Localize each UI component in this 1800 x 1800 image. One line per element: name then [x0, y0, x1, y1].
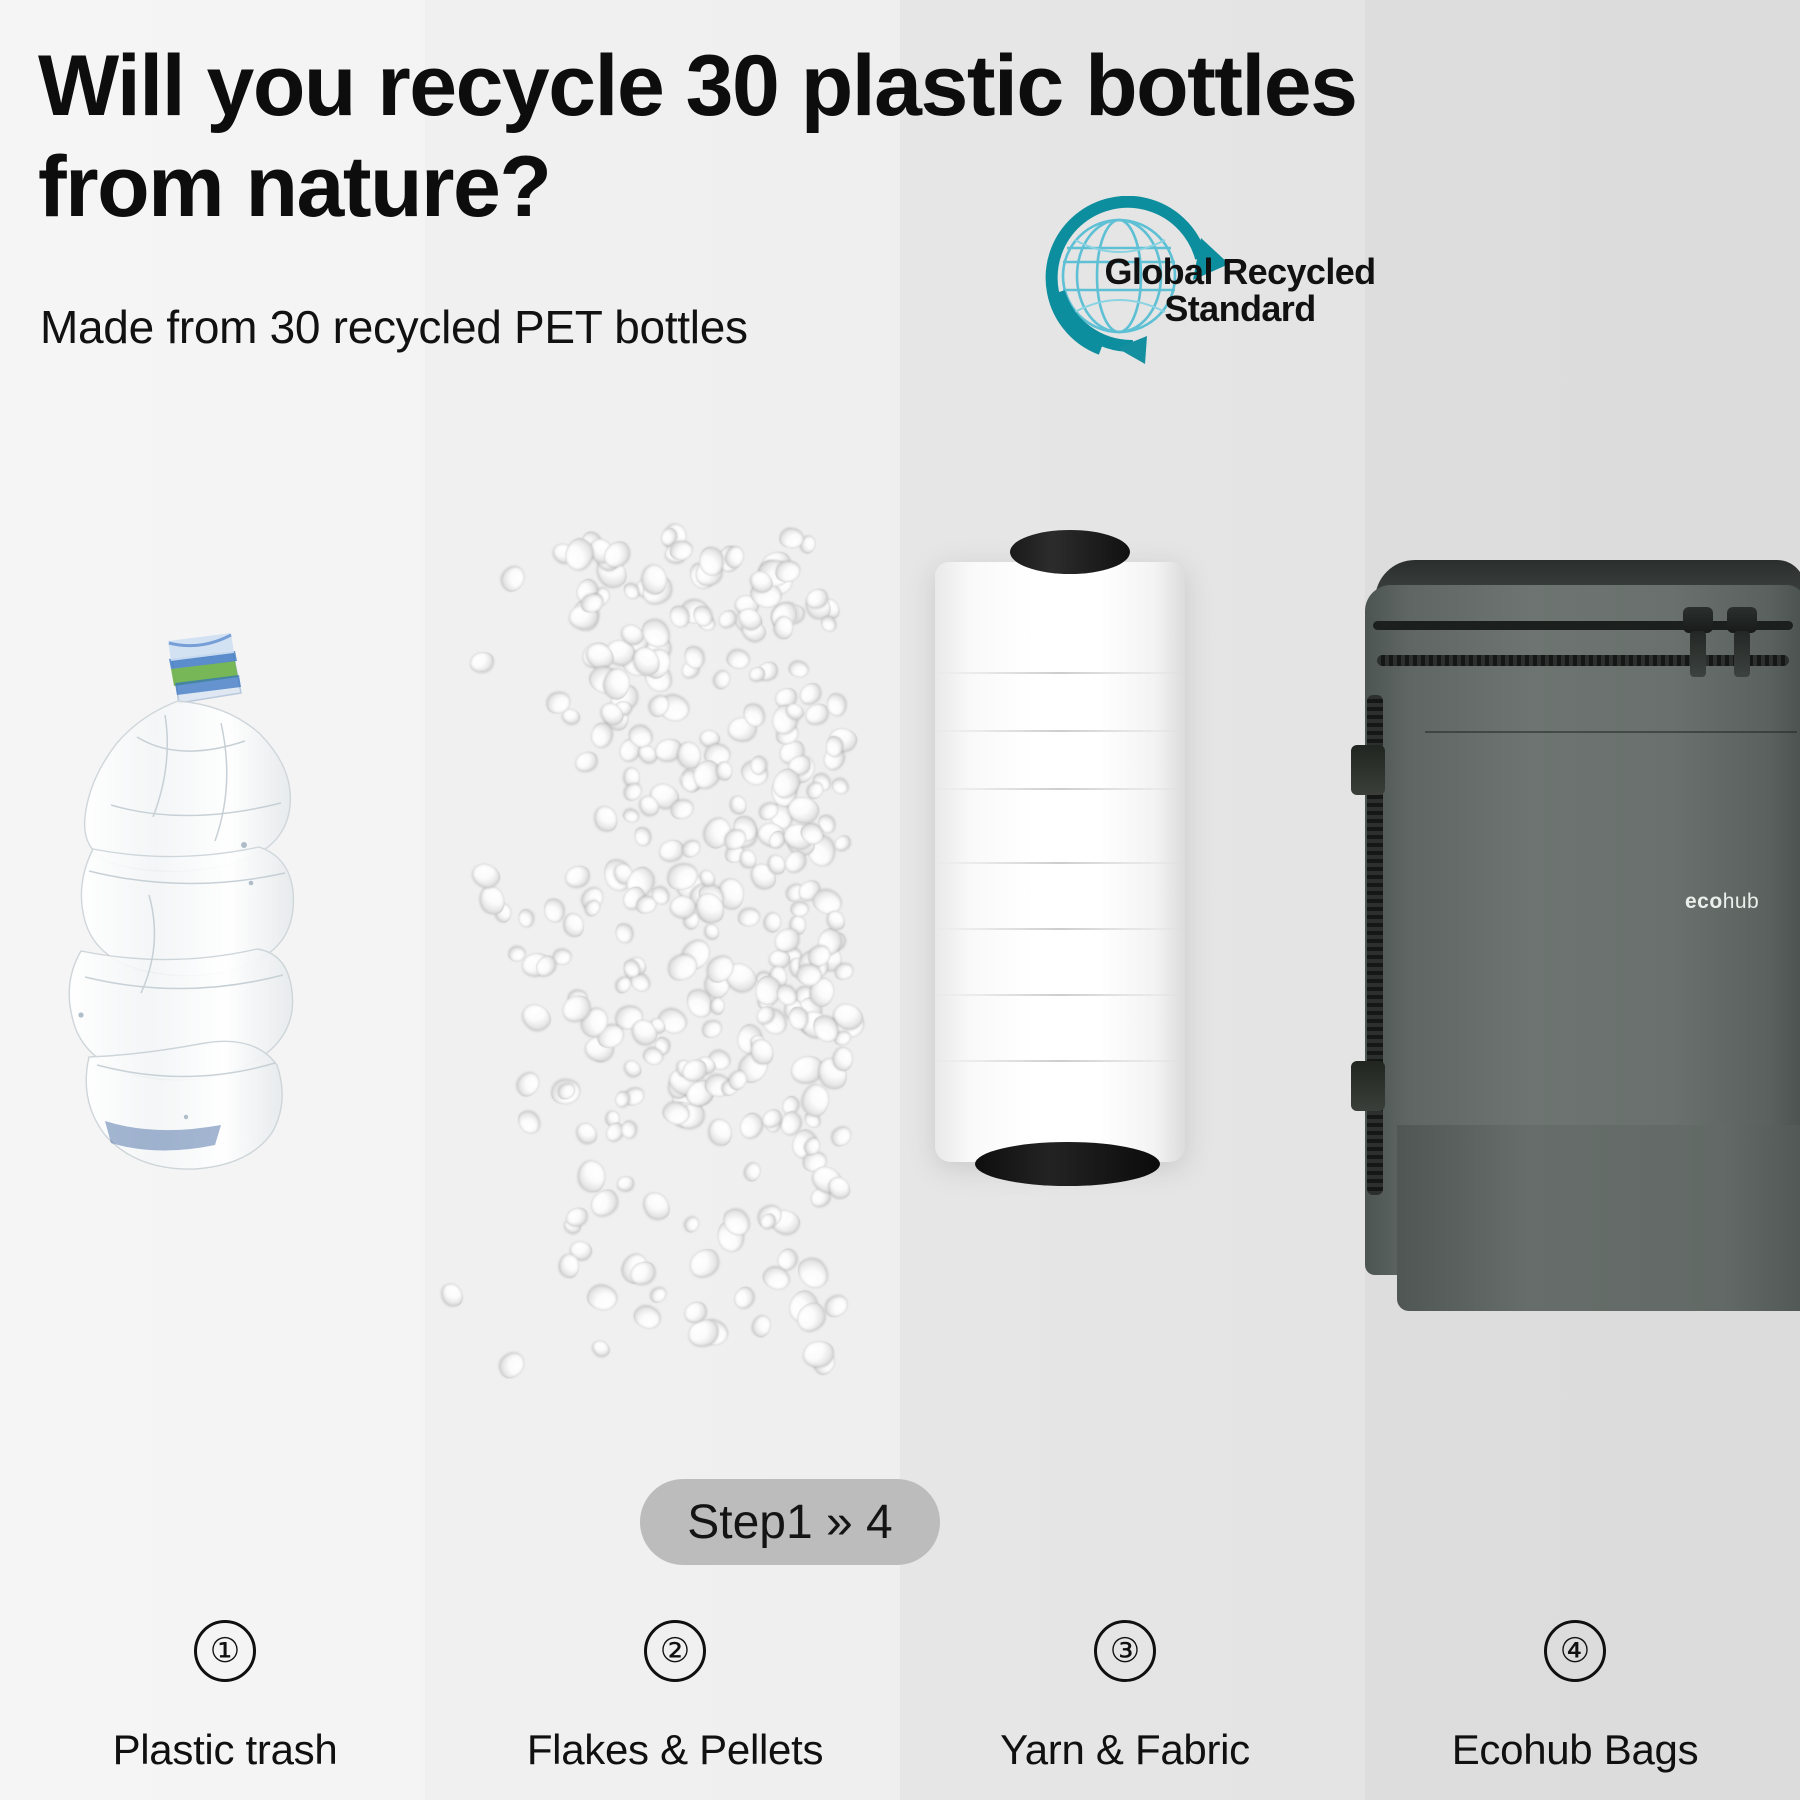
infographic-canvas: Will you recycle 30 plastic bottles from…: [0, 0, 1800, 1800]
pellet: [589, 1337, 613, 1360]
pellet: [717, 761, 733, 780]
yarn-cap-top: [1010, 530, 1130, 574]
step-item-1[interactable]: ① Plastic trash: [0, 1620, 450, 1774]
step-number-1: ①: [194, 1620, 256, 1682]
certification-line-2: Standard: [1075, 291, 1405, 328]
plastic-pellets-image: [415, 525, 835, 1355]
backpack-base-panel: [1397, 1125, 1800, 1311]
pellet: [750, 1313, 774, 1339]
pellet: [513, 1068, 545, 1100]
pellet: [468, 649, 496, 674]
pellet: [773, 616, 794, 640]
pellet: [542, 897, 566, 924]
pellet: [826, 692, 847, 717]
pellet: [703, 921, 721, 941]
pellet: [573, 1119, 601, 1148]
step-number-2: ②: [644, 1620, 706, 1682]
yarn-cap-bottom: [975, 1142, 1160, 1186]
yarn-body: [935, 562, 1185, 1162]
pellet: [735, 1110, 766, 1142]
pellet: [682, 1215, 703, 1236]
pellet: [648, 1285, 670, 1306]
step-item-3[interactable]: ③ Yarn & Fabric: [900, 1620, 1350, 1774]
pellet: [562, 863, 592, 891]
pellet: [699, 1018, 723, 1040]
pellet: [715, 607, 740, 631]
step-label-4: Ecohub Bags: [1452, 1726, 1699, 1774]
pellet: [829, 775, 851, 798]
pellet: [621, 1120, 637, 1138]
zipper-pull-2: [1727, 607, 1757, 633]
brand-logo-light: hub: [1723, 890, 1760, 913]
certification-line-1: Global Recycled: [1104, 251, 1375, 292]
pellet: [562, 911, 586, 938]
strap-buckle-bottom: [1351, 1061, 1385, 1111]
step-item-4[interactable]: ④ Ecohub Bags: [1350, 1620, 1800, 1774]
step-legend: ① Plastic trash ② Flakes & Pellets ③ Yar…: [0, 1620, 1800, 1774]
pellet: [468, 859, 503, 891]
process-imagery: ecohub: [0, 430, 1800, 1450]
pellet: [632, 826, 651, 847]
pellet: [730, 1283, 758, 1312]
pellet: [787, 659, 810, 680]
pellet: [518, 909, 534, 928]
step-number-4: ④: [1544, 1620, 1606, 1682]
step-item-2[interactable]: ② Flakes & Pellets: [450, 1620, 900, 1774]
pellet: [741, 1161, 763, 1185]
pellet: [616, 1175, 635, 1192]
ecohub-backpack-image: ecohub: [1335, 550, 1800, 1280]
pellet: [437, 1280, 467, 1311]
zipper-pull-1: [1683, 607, 1713, 633]
pellet: [729, 794, 749, 816]
backpack-body: ecohub: [1365, 585, 1800, 1275]
pellet: [638, 1187, 674, 1225]
step-badge[interactable]: Step1 » 4: [640, 1479, 940, 1565]
global-recycled-standard-logo: Global Recycled Standard: [1005, 196, 1400, 368]
crushed-plastic-bottle-image: [45, 565, 325, 1185]
pellet: [630, 1301, 664, 1332]
pellet: [496, 562, 529, 596]
step-label-2: Flakes & Pellets: [527, 1726, 823, 1774]
pellet: [793, 1252, 834, 1293]
step-label-1: Plastic trash: [113, 1726, 338, 1774]
zipper-tab-2: [1734, 631, 1750, 677]
zipper-tab-1: [1690, 631, 1706, 677]
certification-label: Global Recycled Standard: [1075, 254, 1405, 327]
pellet: [577, 1159, 606, 1193]
pellet: [621, 806, 641, 824]
pellet: [710, 997, 725, 1015]
pellet: [518, 999, 556, 1036]
pellet: [828, 1123, 855, 1150]
pellet: [725, 648, 751, 671]
page-subtitle: Made from 30 recycled PET bottles: [40, 300, 748, 354]
yarn-cone-image: [935, 530, 1185, 1190]
pellet: [737, 907, 761, 927]
step-label-3: Yarn & Fabric: [1000, 1726, 1250, 1774]
brand-logo: ecohub: [1685, 890, 1759, 914]
pellet: [684, 1243, 725, 1283]
pellet: [832, 832, 854, 853]
pellet: [679, 837, 704, 861]
pellet: [585, 1282, 620, 1313]
pellet: [572, 748, 601, 775]
pellet: [493, 1347, 529, 1383]
pellet: [711, 668, 734, 692]
pellet: [591, 803, 620, 835]
pellet: [558, 1254, 579, 1279]
pellet: [790, 902, 808, 917]
pellet: [621, 1057, 644, 1080]
pellet: [800, 1082, 832, 1118]
pellet: [707, 1117, 735, 1148]
step-number-3: ③: [1094, 1620, 1156, 1682]
pellet: [614, 922, 635, 945]
brand-logo-bold: eco: [1685, 890, 1723, 913]
strap-buckle-top: [1351, 745, 1385, 795]
pellet: [514, 1107, 544, 1138]
